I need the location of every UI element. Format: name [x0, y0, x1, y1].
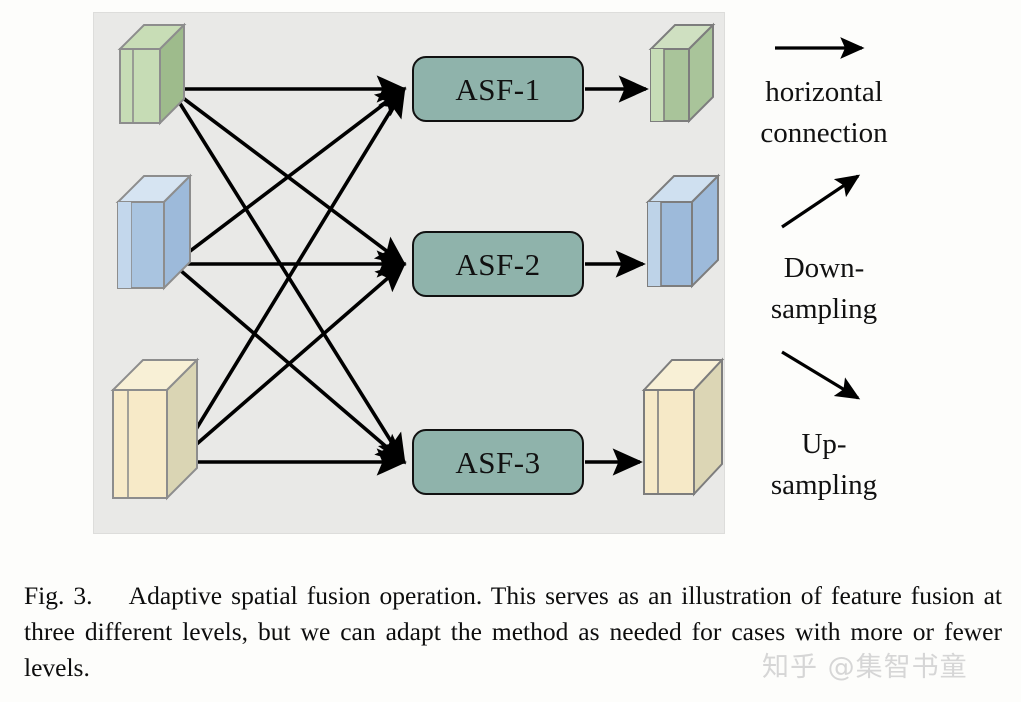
- legend-up-sampling: Up- sampling: [730, 424, 918, 506]
- legend-horizontal-connection-label: horizontal connection: [730, 72, 918, 154]
- legend-horizontal-connection: horizontal connection: [730, 72, 918, 154]
- asf-block-3-label: ASF-3: [455, 447, 540, 478]
- asf-block-3[interactable]: ASF-3: [412, 429, 584, 495]
- asf-block-2[interactable]: ASF-2: [412, 231, 584, 297]
- asf-block-1[interactable]: ASF-1: [412, 56, 584, 122]
- legend-up-sampling-label: Up- sampling: [730, 424, 918, 506]
- legend-down-sampling-label: Down- sampling: [730, 248, 918, 330]
- legend-diagonal-up-right-arrow: [782, 176, 858, 227]
- asf-block-1-label: ASF-1: [455, 74, 540, 105]
- legend-down-sampling: Down- sampling: [730, 248, 918, 330]
- figure-container: ASF-1 ASF-2 ASF-3 horizontal connection …: [0, 0, 1021, 702]
- watermark: 知乎 @集智书童: [762, 645, 968, 684]
- diagram-panel: [93, 12, 725, 534]
- figure-number: Fig. 3.: [24, 581, 93, 610]
- asf-block-2-label: ASF-2: [455, 249, 540, 280]
- legend-diagonal-down-right-arrow: [782, 352, 858, 398]
